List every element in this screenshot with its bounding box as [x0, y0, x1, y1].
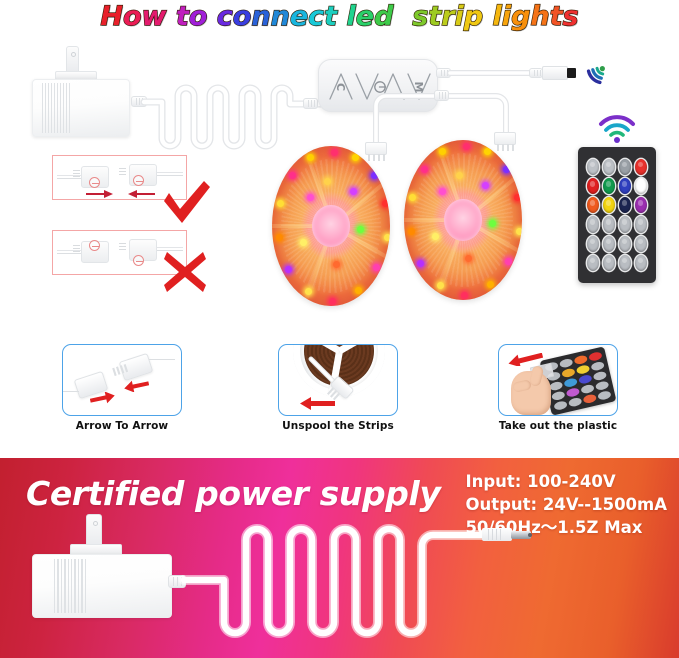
card-wire-left2: [57, 253, 81, 254]
reel-hub: [444, 199, 482, 241]
power-adapter: [28, 46, 133, 141]
card-ring-right: [133, 175, 144, 186]
reel-disc: [272, 146, 390, 306]
panel-image-box: [498, 344, 618, 416]
certified-power-supply-banner: Certified power supply Input: 100-240V O…: [0, 458, 679, 658]
cross-icon: [162, 250, 208, 299]
hand-thumb: [512, 379, 532, 393]
remote-key-r6c3[interactable]: [619, 255, 631, 271]
banner-title: Certified power supply: [26, 474, 440, 513]
remote-key-r4c1[interactable]: [587, 216, 599, 232]
title-letter-16: e: [356, 1, 374, 32]
page-title: How to connect led strip lights: [0, 0, 679, 34]
led-strip-reel-1: [272, 146, 390, 306]
certified-power-adapter: [32, 514, 182, 622]
panel-caption: Arrow To Arrow: [62, 420, 182, 432]
remote-key-r3c4[interactable]: [635, 197, 647, 213]
led-strip-reel-2: [404, 140, 522, 300]
card-arrow-right-pointing: [86, 189, 114, 199]
title-letter-28: h: [530, 1, 549, 32]
card-ring-right: [133, 255, 144, 266]
remote-key-r5c2[interactable]: [603, 236, 615, 252]
title-letter-12: c: [308, 1, 324, 32]
title-letter-6: [207, 1, 216, 32]
remote-key-r6c1[interactable]: [587, 255, 599, 271]
page-title-text: How to connect led strip lights: [100, 2, 578, 32]
mini-plug-pins: [112, 364, 128, 376]
title-letter-22: i: [455, 1, 464, 32]
remote-key-r2c2[interactable]: [603, 178, 615, 194]
remote-key-r3c2[interactable]: [603, 197, 615, 213]
panel3-remote: [540, 346, 617, 415]
card-plug-right-pins: [119, 243, 126, 250]
panel3-remote-keys: [544, 351, 611, 411]
title-letter-23: p: [464, 1, 483, 32]
remote-key-r3c1[interactable]: [587, 197, 599, 213]
panel3-arrow-left: [507, 353, 543, 366]
wifi-icon-top: [598, 114, 636, 144]
title-letter-11: e: [290, 1, 308, 32]
adapter-vent-fins: [54, 559, 86, 613]
card-wire-right: [157, 247, 183, 248]
title-letter-18: [393, 1, 412, 32]
title-letter-26: i: [502, 1, 511, 32]
title-letter-15: l: [346, 1, 355, 32]
remote-key-r6c2[interactable]: [603, 255, 615, 271]
title-letter-9: n: [251, 1, 270, 32]
remote-key-r4c3[interactable]: [619, 216, 631, 232]
title-letter-10: n: [271, 1, 290, 32]
hand: [511, 371, 551, 415]
remote-key-r2c3[interactable]: [619, 178, 631, 194]
usb-tip: [567, 68, 576, 78]
panel-arrow-to-arrow: Arrow To Arrow: [62, 344, 182, 436]
remote-key-r4c2[interactable]: [603, 216, 615, 232]
reel-hub: [312, 205, 350, 247]
card-wire-left2: [57, 178, 81, 179]
title-letter-8: o: [233, 1, 252, 32]
card-wire-right2: [157, 175, 183, 176]
controller-input-ferrule: [303, 98, 318, 109]
remote-key-r6c4[interactable]: [635, 255, 647, 271]
adapter-prong: [86, 514, 102, 548]
remote-key-r4c4[interactable]: [635, 216, 647, 232]
card-plug-right-pins: [119, 168, 126, 175]
card-ring-left: [89, 177, 100, 188]
panel1-arrow-left: [123, 380, 149, 392]
spec-output: Output: 24V--1500mA: [465, 493, 667, 516]
card-plug-left-pins: [73, 245, 80, 252]
card-arrow-left-pointing: [127, 189, 155, 199]
remote-keypad[interactable]: [587, 159, 647, 271]
panel-caption: Unspool the Strips: [278, 420, 398, 432]
dc-plug-barrel: [482, 528, 512, 541]
remote-key-r3c3[interactable]: [619, 197, 631, 213]
remote-key-r5c4[interactable]: [635, 236, 647, 252]
diagram-stage: C M: [0, 34, 679, 450]
panel-take-out-plastic: Take out the plastic: [498, 344, 618, 436]
panel-image-box: [278, 344, 398, 416]
wifi-icon-side: [578, 45, 626, 93]
panel-image-box: [62, 344, 182, 416]
panel1-wire2: [149, 359, 175, 360]
title-letter-7: c: [217, 1, 233, 32]
adapter-prong: [66, 46, 79, 74]
remote-key-r5c1[interactable]: [587, 236, 599, 252]
card-wire-right: [157, 172, 183, 173]
remote-key-r2c1[interactable]: [587, 178, 599, 194]
panel1-arrow-right: [90, 392, 116, 404]
usb-shell: [542, 66, 568, 80]
title-letter-13: t: [324, 1, 337, 32]
title-letter-2: w: [142, 1, 167, 32]
title-letter-5: o: [189, 1, 208, 32]
panel2-arrow-left: [299, 397, 335, 410]
title-letter-24: [483, 1, 492, 32]
title-letter-3: [166, 1, 175, 32]
ir-remote-control[interactable]: [578, 147, 656, 283]
spec-input: Input: 100-240V: [465, 470, 667, 493]
title-letter-27: g: [511, 1, 530, 32]
panel-caption: Take out the plastic: [498, 420, 618, 432]
card-ring-left: [89, 240, 100, 251]
adapter-to-controller-cable: [144, 74, 324, 154]
title-letter-19: s: [412, 1, 428, 32]
remote-key-r1c2[interactable]: [603, 159, 615, 175]
check-icon: [160, 179, 212, 230]
remote-key-r2c4[interactable]: [635, 178, 647, 194]
usb-cable-ferrule: [529, 68, 543, 78]
dc-barrel-plug: [482, 528, 537, 542]
remote-key-r5c3[interactable]: [619, 236, 631, 252]
remote-key-r1c4[interactable]: [635, 159, 647, 175]
title-letter-30: s: [563, 1, 579, 32]
mini-plug-right: [119, 353, 154, 381]
title-letter-1: o: [123, 1, 142, 32]
controller-strip-ferrule: [434, 90, 449, 101]
title-letter-25: l: [493, 1, 502, 32]
adapter-vent-fins: [42, 83, 70, 133]
remote-key-r1c3[interactable]: [619, 159, 631, 175]
title-letter-29: t: [550, 1, 563, 32]
reel-disc: [404, 140, 522, 300]
card-plug-left-pins: [73, 170, 80, 177]
title-letter-21: r: [441, 1, 454, 32]
dc-plug-center-hole: [528, 533, 532, 537]
panel-unspool-strips: Unspool the Strips: [278, 344, 398, 436]
adapter-body: [32, 554, 172, 618]
title-letter-20: t: [428, 1, 441, 32]
title-letter-4: t: [176, 1, 189, 32]
panel1-wire: [63, 391, 79, 392]
wifi-dot: [614, 137, 620, 143]
title-letter-17: d: [374, 1, 393, 32]
remote-key-r1c1[interactable]: [587, 159, 599, 175]
usb-connector: [542, 66, 578, 81]
title-letter-0: H: [100, 1, 123, 32]
infographic-root: How to connect led strip lights: [0, 0, 679, 658]
